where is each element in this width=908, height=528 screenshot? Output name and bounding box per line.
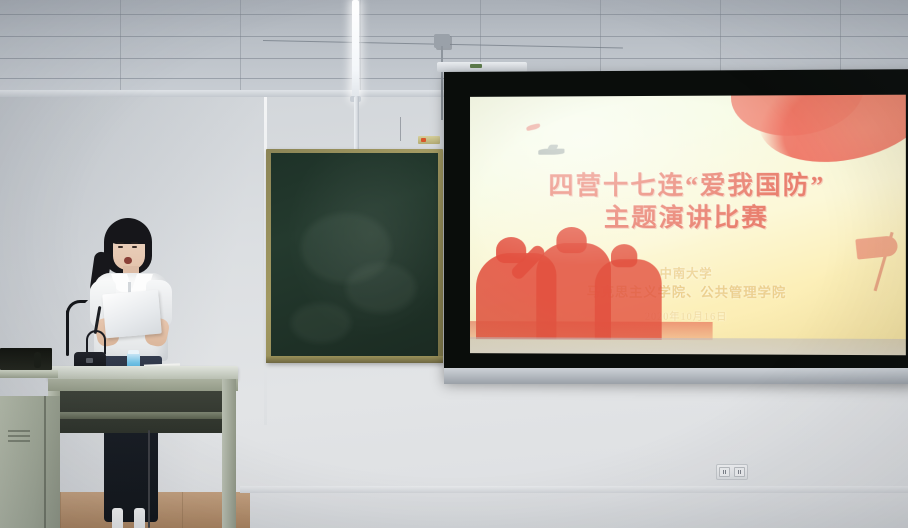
floor-far-shadow: [250, 492, 908, 528]
desk-rail: [60, 412, 226, 419]
slide-title-line-1: 四营十七连“爱我国防”: [470, 170, 906, 203]
sock-left: [112, 508, 123, 528]
presentation-slide: 四营十七连“爱我国防” 主题演讲比赛 中南大学 马克思主义学院、公共管理学院 2…: [470, 95, 906, 356]
wall-outlet-icon[interactable]: [716, 464, 748, 480]
blackboard-surface: [271, 153, 438, 356]
metal-cabinet: [0, 396, 60, 528]
chalk-ledge: [266, 356, 443, 363]
hair-fringe: [109, 224, 150, 244]
bottle-cap: [128, 350, 139, 354]
speech-papers: [102, 290, 162, 339]
desk-top: [48, 366, 238, 379]
cabinet-top: [0, 370, 58, 378]
monitor: [0, 348, 52, 370]
eye-right: [132, 246, 137, 248]
light-switch-box[interactable]: [418, 136, 440, 144]
soldier-silhouettes: [470, 221, 702, 340]
blackboard-frame: [266, 149, 443, 363]
bag-clasp-icon: [86, 358, 93, 363]
cabinet-vent-icon: [8, 430, 30, 444]
photo-scene: 四营十七连“爱我国防” 主题演讲比赛 中南大学 马克思主义学院、公共管理学院 2…: [0, 0, 908, 528]
aircraft-icon-small: [526, 123, 541, 131]
slide-decoration-blob: [752, 95, 906, 172]
floor-cable: [148, 430, 150, 528]
desk-leg-right: [222, 379, 236, 528]
mouth: [124, 257, 132, 264]
projector-screen: 四营十七连“爱我国防” 主题演讲比赛 中南大学 马克思主义学院、公共管理学院 2…: [444, 69, 908, 384]
screen-bottom-weight-bar: [444, 368, 908, 384]
desk-apron: [48, 379, 238, 391]
microphone-stand: [66, 310, 69, 356]
sock-right: [134, 508, 145, 528]
monitor-stand: [34, 352, 41, 368]
cabinet-seam: [44, 396, 46, 528]
wall-baseboard: [240, 486, 908, 493]
roller-label-tag: [470, 64, 482, 68]
wall-conduit: [400, 117, 401, 141]
eye-left: [118, 246, 123, 248]
hanging-cable: [441, 46, 443, 120]
fluorescent-light-icon: [352, 0, 359, 100]
outlet-socket-left: [719, 467, 730, 477]
slide-bottom-band: [470, 337, 906, 355]
microphone-gooseneck: [66, 300, 88, 322]
aircraft-icon: [538, 149, 564, 155]
outlet-socket-right: [734, 467, 745, 477]
projector-screen-roller: [437, 62, 527, 72]
flag-figure-icon: [848, 225, 902, 292]
bag-strap: [86, 330, 106, 354]
